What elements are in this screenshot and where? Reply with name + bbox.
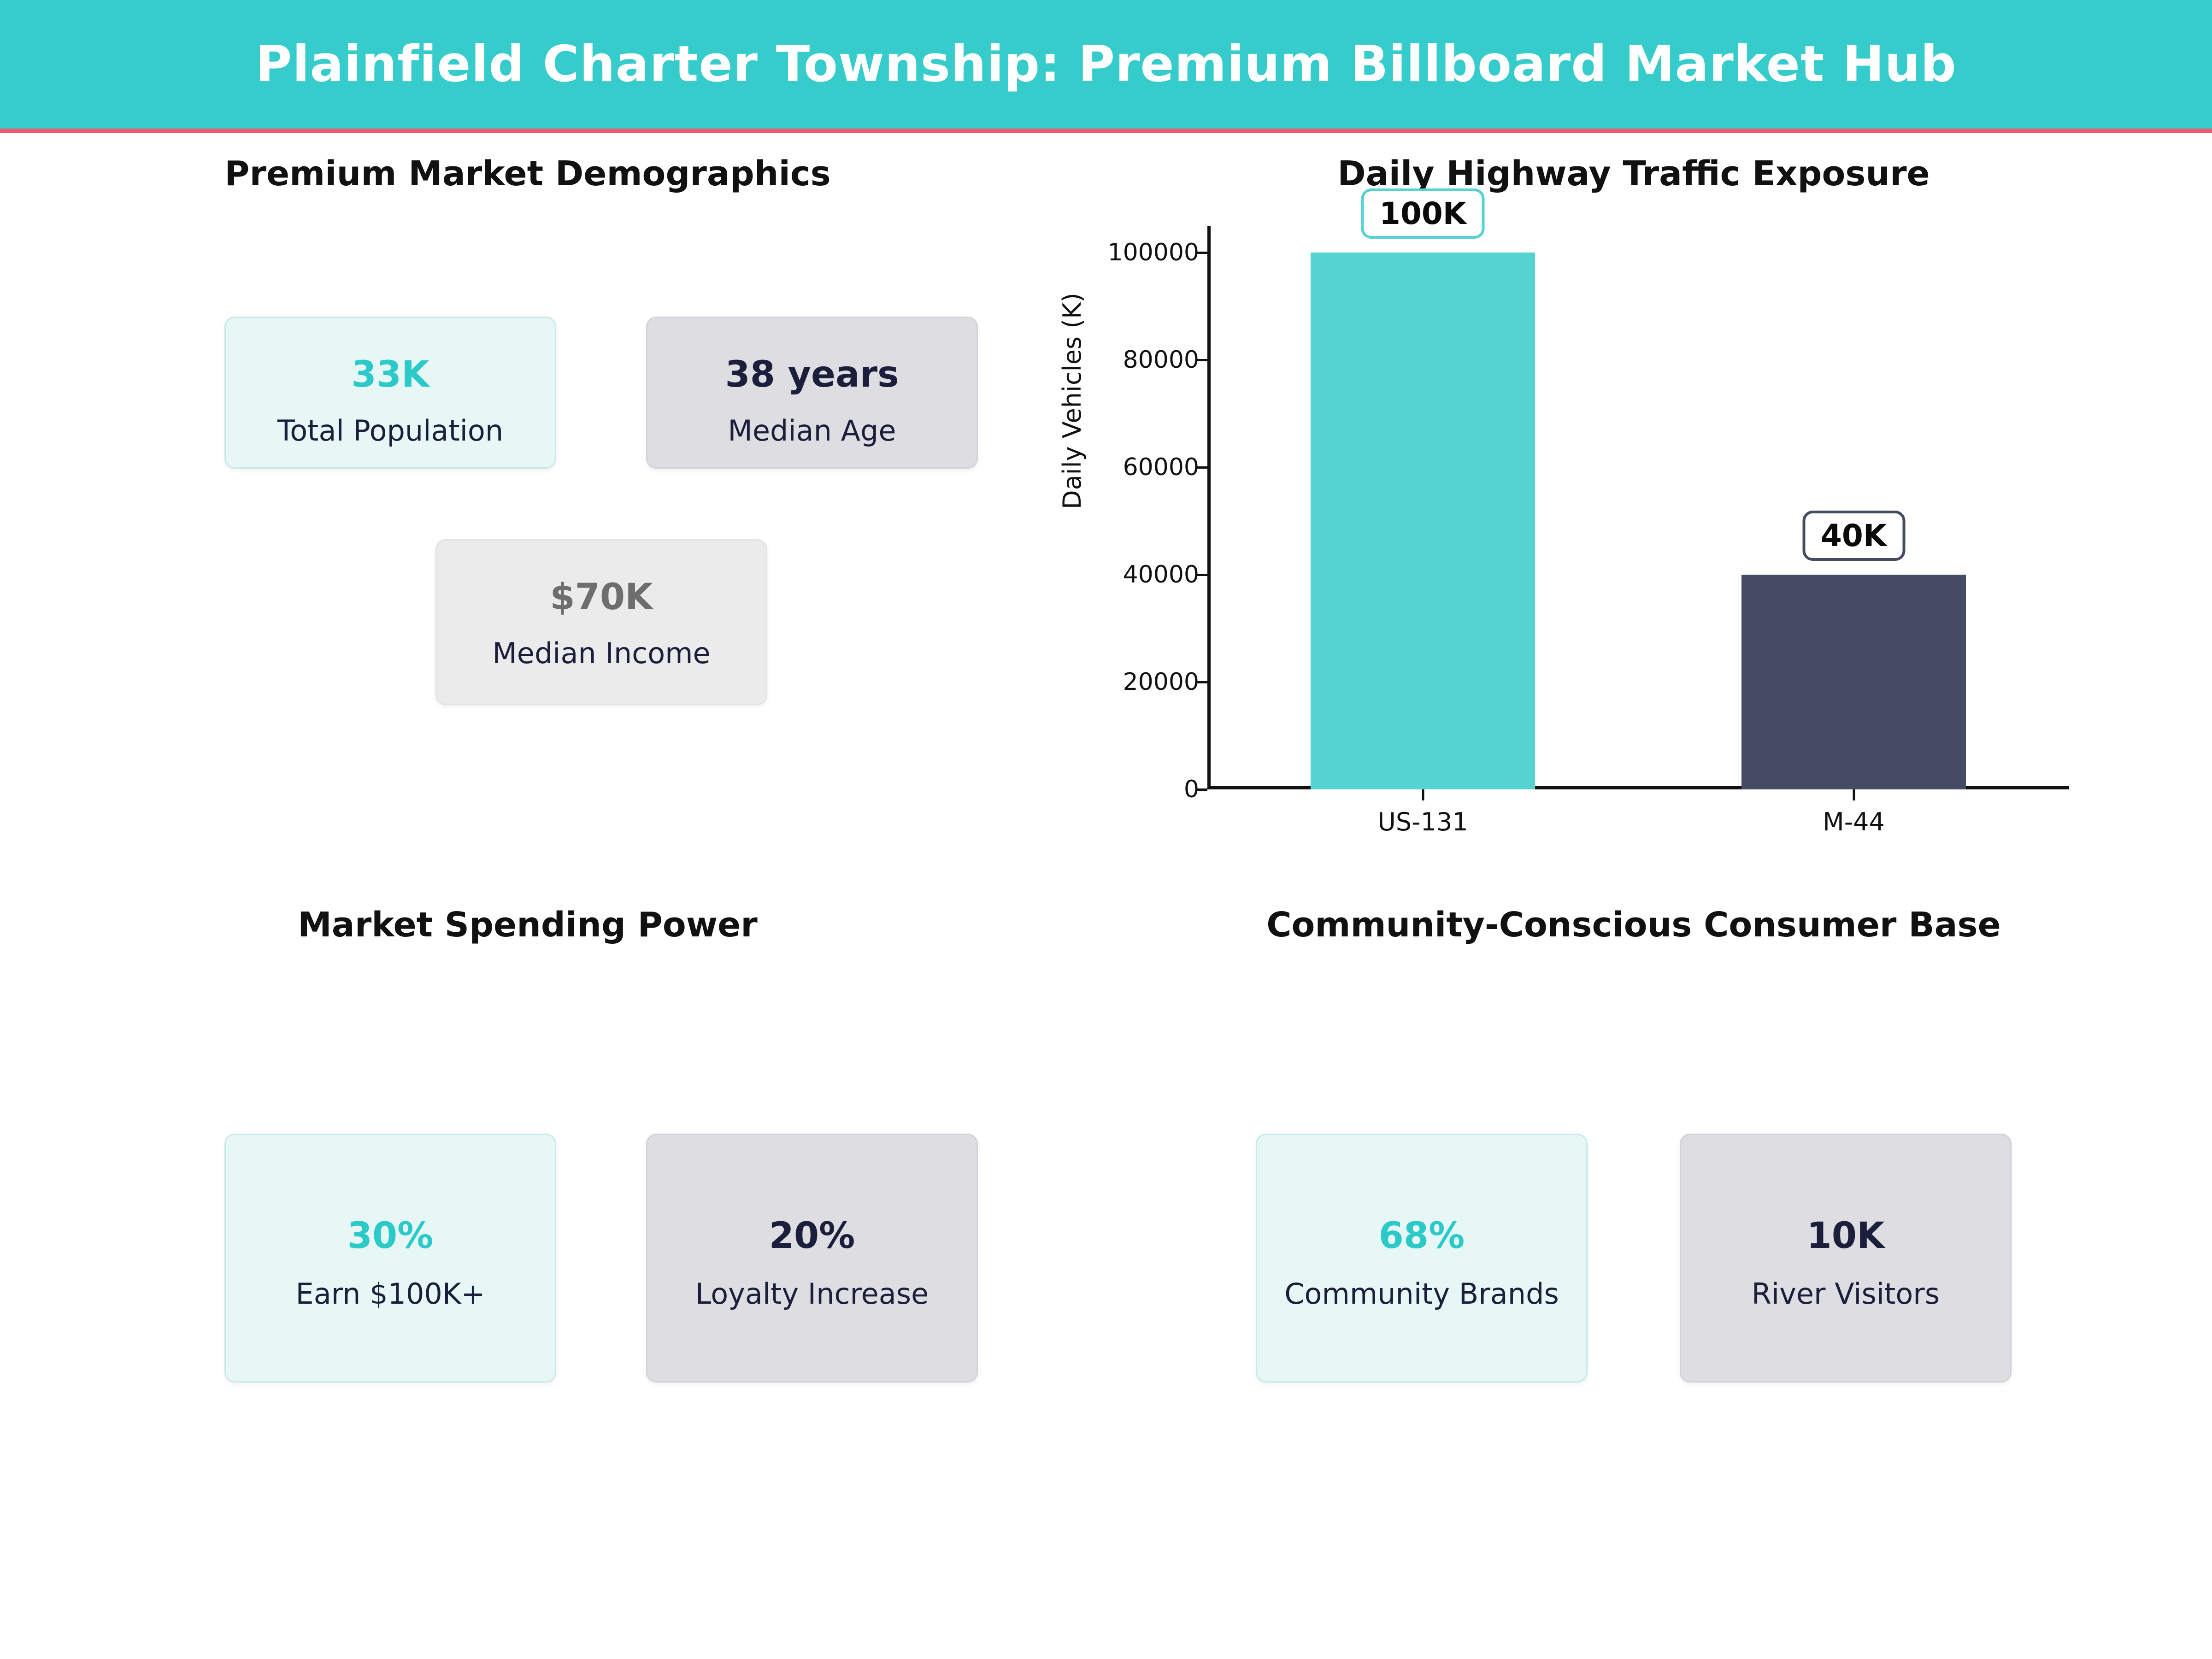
chart-x-tick-label-us-131: US-131 xyxy=(1377,810,1468,835)
kpi-value-community-brands: 68% xyxy=(1379,1218,1465,1254)
kpi-label-total-population: Total Population xyxy=(277,417,503,445)
chart-y-tick-label: 60000 xyxy=(1123,455,1199,479)
chart-y-tick-label: 0 xyxy=(1184,777,1199,801)
kpi-card-river-visitors[interactable]: 10K River Visitors xyxy=(1680,1134,2012,1382)
panel-spending-title: Market Spending Power xyxy=(0,908,1055,942)
kpi-card-earn-100k[interactable]: 30% Earn $100K+ xyxy=(224,1134,556,1382)
kpi-label-community-brands: Community Brands xyxy=(1284,1280,1559,1308)
kpi-value-earn-100k: 30% xyxy=(347,1218,434,1254)
chart-plot-area: 020000400006000080000100000US-131100KM-4… xyxy=(1207,226,2069,789)
kpi-card-total-population[interactable]: 33K Total Population xyxy=(224,317,556,469)
panel-community: Community-Conscious Consumer Base xyxy=(1055,908,2212,1627)
kpi-card-loyalty-increase[interactable]: 20% Loyalty Increase xyxy=(646,1134,978,1382)
kpi-label-median-income: Median Income xyxy=(492,639,710,668)
panel-traffic-title: Daily Highway Traffic Exposure xyxy=(1055,157,2212,191)
page-header: Plainfield Charter Township: Premium Bil… xyxy=(0,0,2212,129)
header-accent-rule xyxy=(0,129,2212,133)
chart-x-tick-label-m-44: M-44 xyxy=(1823,810,1885,835)
dashboard-root: Plainfield Charter Township: Premium Bil… xyxy=(0,0,2212,1659)
chart-x-tick-mark xyxy=(1853,789,1855,800)
kpi-card-median-age[interactable]: 38 years Median Age xyxy=(646,317,978,469)
chart-y-tick-label: 40000 xyxy=(1123,563,1199,587)
page-title: Plainfield Charter Township: Premium Bil… xyxy=(255,40,1956,89)
chart-x-tick-mark xyxy=(1422,789,1424,800)
kpi-value-total-population: 33K xyxy=(352,357,429,393)
chart-y-tick-label: 20000 xyxy=(1123,670,1199,694)
kpi-card-median-income[interactable]: $70K Median Income xyxy=(435,539,767,705)
kpi-card-community-brands[interactable]: 68% Community Brands xyxy=(1256,1134,1588,1382)
panel-demographics-title: Premium Market Demographics xyxy=(0,157,1055,191)
chart-bar-m-44[interactable] xyxy=(1741,575,1965,789)
kpi-value-river-visitors: 10K xyxy=(1807,1218,1885,1254)
chart-y-axis-line xyxy=(1207,226,1211,789)
kpi-label-earn-100k: Earn $100K+ xyxy=(296,1280,485,1308)
chart-y-tick-label: 100000 xyxy=(1107,241,1199,265)
kpi-value-median-income: $70K xyxy=(550,579,653,615)
kpi-label-river-visitors: River Visitors xyxy=(1752,1280,1940,1308)
kpi-value-loyalty-increase: 20% xyxy=(769,1218,855,1254)
chart-bar-value-label-m-44: 40K xyxy=(1802,511,1905,561)
chart-bar-value-label-us-131: 100K xyxy=(1361,188,1485,239)
kpi-label-loyalty-increase: Loyalty Increase xyxy=(695,1280,929,1308)
panel-demographics: Premium Market Demographics xyxy=(0,157,1055,843)
chart-y-tick-label: 80000 xyxy=(1123,348,1199,372)
panel-community-title: Community-Conscious Consumer Base xyxy=(1055,908,2212,942)
chart-bar-us-131[interactable] xyxy=(1311,253,1535,789)
kpi-value-median-age: 38 years xyxy=(725,357,899,393)
traffic-bar-chart: 020000400006000080000100000US-131100KM-4… xyxy=(1055,203,2212,848)
kpi-label-median-age: Median Age xyxy=(728,417,896,445)
